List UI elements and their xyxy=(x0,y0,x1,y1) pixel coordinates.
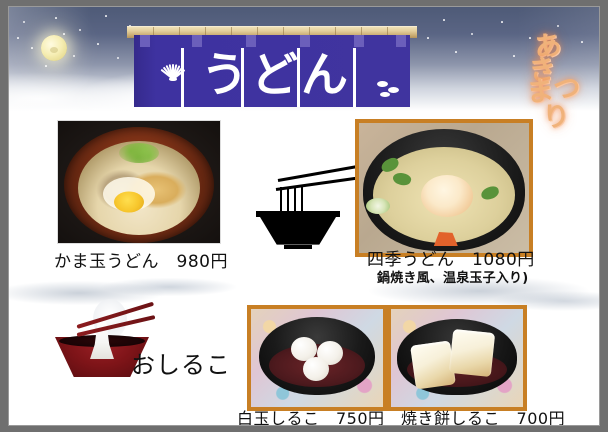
photo-kama-tama-udon xyxy=(57,120,221,244)
noren-mark-3 xyxy=(380,92,390,97)
noren-panel: うどん xyxy=(134,35,410,107)
photo-yakimochi-shiruko xyxy=(387,305,527,411)
noren-mark-1 xyxy=(377,81,388,87)
heading-oshiruko: おしるこ xyxy=(131,345,231,380)
noren-title-text: うどん xyxy=(186,45,366,107)
noren-mark-2 xyxy=(388,87,399,93)
caption-shiruko-prices: 白玉しるこ 750円 焼き餅しるこ 700円 xyxy=(237,405,565,426)
moon-icon xyxy=(41,35,67,61)
caption-kama-tama-udon: かま玉うどん 980円 xyxy=(54,247,228,272)
fan-icon xyxy=(160,61,186,81)
shop-curtain-noren: うどん xyxy=(127,26,417,110)
seasonal-calligraphy: あ き まつり xyxy=(507,29,595,121)
photo-shiki-udon xyxy=(355,119,533,257)
noodle-bowl-silhouette-icon xyxy=(254,175,356,249)
photo-shiratama-shiruko xyxy=(247,305,387,411)
poster-page: うどん あ き まつり かま玉うどん 980円 xyxy=(8,6,600,426)
screenshot-root: うどん あ き まつり かま玉うどん 980円 xyxy=(0,0,608,432)
caption-shiki-udon-note: 鍋焼き風、温泉玉子入り) xyxy=(377,267,528,286)
